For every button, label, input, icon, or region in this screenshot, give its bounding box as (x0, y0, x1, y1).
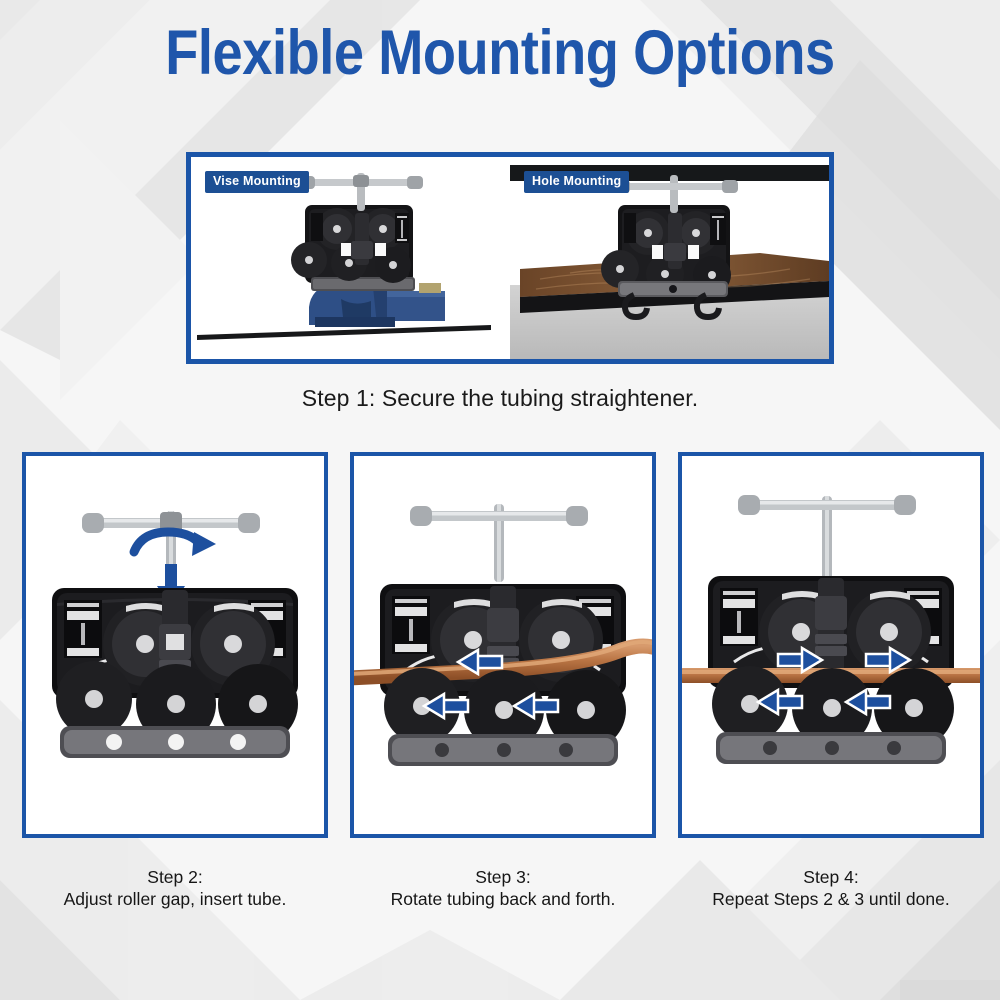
caption-step-2-line1: Step 2: (10, 866, 340, 888)
step-4-panel (678, 452, 984, 838)
caption-step-2: Step 2: Adjust roller gap, insert tube. (10, 866, 340, 911)
left-spec-label (720, 588, 758, 646)
step-4-illustration (682, 456, 980, 834)
caption-step-4-line1: Step 4: (666, 866, 996, 888)
step-2-panel (22, 452, 328, 838)
caption-step-4: Step 4: Repeat Steps 2 & 3 until done. (666, 866, 996, 911)
lower-left-roller (56, 661, 132, 737)
caption-step-4-line2: Repeat Steps 2 & 3 until done. (666, 888, 996, 910)
step-3-panel (350, 452, 656, 838)
mounting-cell-hole: Hole Mounting (510, 157, 829, 359)
page-title: Flexible Mounting Options (70, 22, 930, 85)
caption-step-3-line1: Step 3: (338, 866, 668, 888)
mounting-base (716, 732, 946, 764)
mounting-base (388, 734, 618, 766)
badge-hole-mounting: Hole Mounting (524, 171, 629, 193)
step-3-illustration (354, 456, 652, 834)
step-2-illustration (26, 456, 324, 834)
mounting-cell-vise: Vise Mounting (191, 157, 510, 359)
left-spec-label (392, 596, 430, 654)
badge-vise-mounting: Vise Mounting (205, 171, 309, 193)
caption-step-1: Step 1: Secure the tubing straightener. (0, 385, 1000, 412)
left-spec-label (64, 600, 102, 658)
mounting-options-panel: Vise Mounting (186, 152, 834, 364)
caption-step-2-line2: Adjust roller gap, insert tube. (10, 888, 340, 910)
mounting-base (60, 726, 290, 758)
caption-step-3: Step 3: Rotate tubing back and forth. (338, 866, 668, 911)
caption-step-3-line2: Rotate tubing back and forth. (338, 888, 668, 910)
